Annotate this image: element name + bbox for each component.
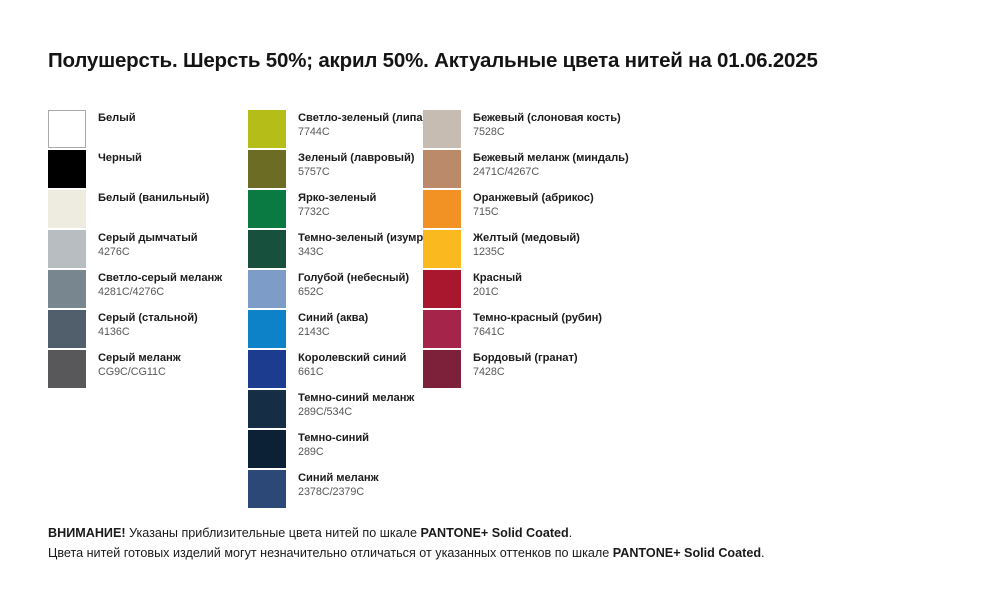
swatch-column-warm-reds: Бежевый (слоновая кость)7528CБежевый мел… (423, 110, 683, 390)
swatch-row: Оранжевый (абрикос)715C (423, 190, 683, 230)
swatch-name: Синий (аква) (298, 312, 368, 325)
footer-line-2-period: . (761, 546, 765, 560)
color-swatch (423, 310, 461, 348)
color-swatch (248, 230, 286, 268)
swatch-pantone-code: 2378C/2379C (298, 486, 379, 498)
swatch-pantone-code: 201C (473, 286, 522, 298)
swatch-text: Желтый (медовый)1235C (473, 230, 580, 258)
swatch-name: Темно-зеленый (изумруд) (298, 232, 440, 245)
swatch-name: Светло-серый меланж (98, 272, 222, 285)
swatch-pantone-code: 7744C (298, 126, 426, 138)
swatch-name: Черный (98, 152, 142, 165)
swatch-pantone-code: 4276C (98, 246, 198, 258)
color-swatch (248, 430, 286, 468)
swatch-text: Белый (98, 110, 136, 125)
color-chart-page: Полушерсть. Шерсть 50%; акрил 50%. Актуа… (0, 0, 1000, 609)
color-swatch (423, 270, 461, 308)
color-swatch (248, 470, 286, 508)
swatch-text: Серый меланжCG9C/CG11C (98, 350, 181, 378)
color-swatch (248, 390, 286, 428)
footer-line-2-text: Цвета нитей готовых изделий могут незнач… (48, 546, 613, 560)
swatch-row: Синий (аква)2143C (248, 310, 428, 350)
color-swatch (423, 150, 461, 188)
page-title: Полушерсть. Шерсть 50%; акрил 50%. Актуа… (48, 49, 818, 73)
swatch-pantone-code: 7641C (473, 326, 602, 338)
swatch-row: Бордовый (гранат)7428C (423, 350, 683, 390)
swatch-row: Белый (ванильный) (48, 190, 248, 230)
color-swatch (248, 150, 286, 188)
color-swatch (248, 270, 286, 308)
swatch-row: Темно-синий289C (248, 430, 428, 470)
pantone-brand-label: PANTONE+ Solid Coated (420, 526, 568, 540)
swatch-name: Желтый (медовый) (473, 232, 580, 245)
swatch-name: Бежевый меланж (миндаль) (473, 152, 629, 165)
swatch-row: Желтый (медовый)1235C (423, 230, 683, 270)
swatch-pantone-code: 1235C (473, 246, 580, 258)
swatch-name: Серый меланж (98, 352, 181, 365)
swatch-text: Темно-синий меланж289C/534C (298, 390, 414, 418)
swatch-pantone-code: 289C/534C (298, 406, 414, 418)
swatch-name: Светло-зеленый (липа) (298, 112, 426, 125)
swatch-name: Темно-синий (298, 432, 369, 445)
swatch-row: Зеленый (лавровый)5757C (248, 150, 428, 190)
swatch-row: Красный201C (423, 270, 683, 310)
swatch-text: Бежевый меланж (миндаль)2471C/4267C (473, 150, 629, 178)
color-swatch (248, 190, 286, 228)
swatch-row: Бежевый (слоновая кость)7528C (423, 110, 683, 150)
swatch-row: Белый (48, 110, 248, 150)
swatch-pantone-code: 661C (298, 366, 406, 378)
color-swatch (423, 230, 461, 268)
swatch-text: Синий меланж2378C/2379C (298, 470, 379, 498)
swatch-row: Светло-зеленый (липа)7744C (248, 110, 428, 150)
footer-notice: ВНИМАНИЕ! Указаны приблизительные цвета … (48, 524, 958, 563)
swatch-name: Ярко-зеленый (298, 192, 376, 205)
swatch-column-greens-blues: Светло-зеленый (липа)7744CЗеленый (лавро… (248, 110, 428, 510)
color-swatch (423, 190, 461, 228)
swatch-name: Темно-синий меланж (298, 392, 414, 405)
swatch-text: Белый (ванильный) (98, 190, 209, 205)
color-swatch (48, 110, 86, 148)
swatch-row: Светло-серый меланж4281C/4276C (48, 270, 248, 310)
swatch-pantone-code: 2471C/4267C (473, 166, 629, 178)
footer-line-1: ВНИМАНИЕ! Указаны приблизительные цвета … (48, 524, 958, 544)
swatch-text: Серый дымчатый4276C (98, 230, 198, 258)
swatch-pantone-code: 4281C/4276C (98, 286, 222, 298)
swatch-name: Темно-красный (рубин) (473, 312, 602, 325)
swatch-pantone-code: 289C (298, 446, 369, 458)
swatch-name: Зеленый (лавровый) (298, 152, 414, 165)
color-swatch (248, 110, 286, 148)
color-swatch (248, 350, 286, 388)
swatch-row: Серый дымчатый4276C (48, 230, 248, 270)
swatch-name: Красный (473, 272, 522, 285)
swatch-text: Зеленый (лавровый)5757C (298, 150, 414, 178)
swatch-name: Бордовый (гранат) (473, 352, 578, 365)
color-swatch (248, 310, 286, 348)
swatch-text: Королевский синий661C (298, 350, 406, 378)
swatch-text: Темно-зеленый (изумруд)343C (298, 230, 440, 258)
swatch-name: Серый дымчатый (98, 232, 198, 245)
swatch-name: Голубой (небесный) (298, 272, 409, 285)
pantone-brand-label-2: PANTONE+ Solid Coated (613, 546, 761, 560)
footer-line-1-period: . (569, 526, 573, 540)
swatch-text: Темно-красный (рубин)7641C (473, 310, 602, 338)
swatch-row: Королевский синий661C (248, 350, 428, 390)
swatch-pantone-code: 5757C (298, 166, 414, 178)
swatch-text: Светло-зеленый (липа)7744C (298, 110, 426, 138)
swatch-text: Оранжевый (абрикос)715C (473, 190, 594, 218)
swatch-pantone-code: 2143C (298, 326, 368, 338)
swatch-row: Серый меланжCG9C/CG11C (48, 350, 248, 390)
swatch-pantone-code: 652C (298, 286, 409, 298)
swatch-text: Серый (стальной)4136C (98, 310, 198, 338)
swatch-name: Белый (ванильный) (98, 192, 209, 205)
swatch-text: Ярко-зеленый7732C (298, 190, 376, 218)
swatch-pantone-code: 715C (473, 206, 594, 218)
swatch-text: Светло-серый меланж4281C/4276C (98, 270, 222, 298)
swatch-row: Темно-синий меланж289C/534C (248, 390, 428, 430)
swatch-pantone-code: 343C (298, 246, 440, 258)
swatch-text: Бежевый (слоновая кость)7528C (473, 110, 621, 138)
color-swatch (48, 310, 86, 348)
swatch-text: Бордовый (гранат)7428C (473, 350, 578, 378)
footer-line-2: Цвета нитей готовых изделий могут незнач… (48, 544, 958, 564)
swatch-name: Синий меланж (298, 472, 379, 485)
color-swatch (48, 150, 86, 188)
color-swatch (423, 110, 461, 148)
swatch-pantone-code: CG9C/CG11C (98, 366, 181, 378)
swatch-row: Серый (стальной)4136C (48, 310, 248, 350)
swatch-row: Темно-красный (рубин)7641C (423, 310, 683, 350)
swatch-pantone-code: 7732C (298, 206, 376, 218)
swatch-text: Синий (аква)2143C (298, 310, 368, 338)
swatch-pantone-code: 7428C (473, 366, 578, 378)
swatch-row: Голубой (небесный)652C (248, 270, 428, 310)
swatch-text: Голубой (небесный)652C (298, 270, 409, 298)
swatch-text: Темно-синий289C (298, 430, 369, 458)
swatch-name: Белый (98, 112, 136, 125)
color-swatch (423, 350, 461, 388)
swatch-row: Синий меланж2378C/2379C (248, 470, 428, 510)
swatch-pantone-code: 4136C (98, 326, 198, 338)
swatch-row: Ярко-зеленый7732C (248, 190, 428, 230)
swatch-column-neutrals: БелыйЧерныйБелый (ванильный)Серый дымчат… (48, 110, 248, 390)
swatch-text: Красный201C (473, 270, 522, 298)
swatch-name: Бежевый (слоновая кость) (473, 112, 621, 125)
color-swatch (48, 270, 86, 308)
swatch-row: Бежевый меланж (миндаль)2471C/4267C (423, 150, 683, 190)
swatch-pantone-code: 7528C (473, 126, 621, 138)
footer-line-1-text: Указаны приблизительные цвета нитей по ш… (126, 526, 421, 540)
swatch-name: Серый (стальной) (98, 312, 198, 325)
swatch-name: Оранжевый (абрикос) (473, 192, 594, 205)
color-swatch (48, 190, 86, 228)
swatch-text: Черный (98, 150, 142, 165)
swatch-row: Темно-зеленый (изумруд)343C (248, 230, 428, 270)
color-swatch (48, 350, 86, 388)
color-swatch (48, 230, 86, 268)
footer-warning-label: ВНИМАНИЕ! (48, 526, 126, 540)
swatch-row: Черный (48, 150, 248, 190)
swatch-name: Королевский синий (298, 352, 406, 365)
